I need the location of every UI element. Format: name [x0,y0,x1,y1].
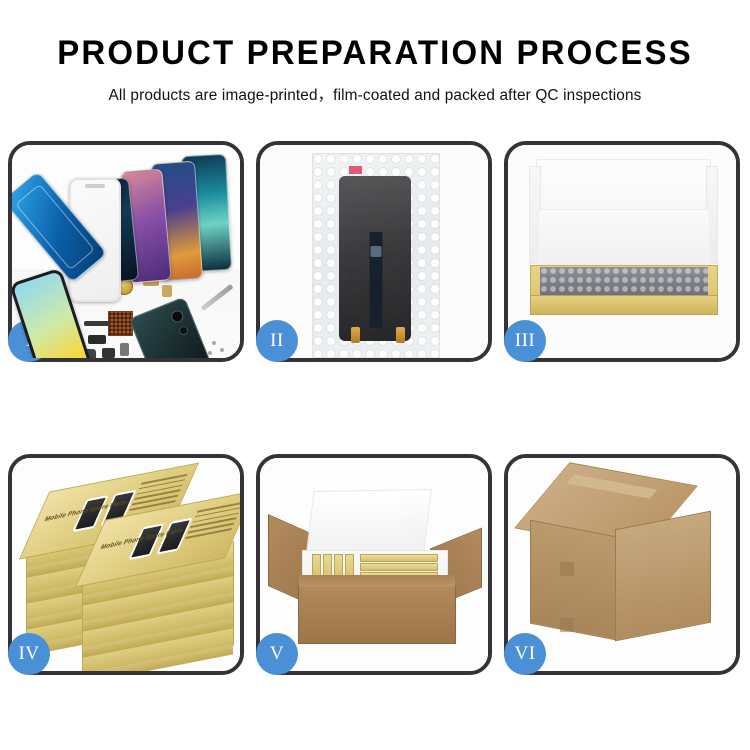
page-subtitle: All products are image-printed，film-coat… [4,83,747,105]
carton-with-foam-insert-image [260,458,488,671]
phone-screens-and-spare-parts-image [12,145,240,358]
step-badge-6: VI [504,633,546,675]
foam-lined-inner-box-image [508,145,736,358]
process-step-panel-1[interactable]: I [8,141,244,362]
bubble-wrap-bag-icon [312,153,440,358]
foam-sheet-icon [538,209,710,267]
step-badge-2: II [256,320,298,362]
header: PRODUCT PREPARATION PROCESS All products… [0,0,750,105]
process-step-panel-2[interactable]: II [256,141,492,362]
carton-right-face-icon [615,511,711,642]
sealed-shipping-carton-image [508,458,736,671]
gold-connector-left-icon [351,327,360,343]
page-title: PRODUCT PREPARATION PROCESS [11,36,739,72]
process-step-grid: I II [8,141,742,675]
bubble-padding-icon [540,267,708,295]
process-step-panel-4[interactable]: Mobile Phone Spare Parts Mobile Phone Sp… [8,454,244,675]
step-badge-3: III [504,320,546,362]
step-badge-5: V [256,633,298,675]
pink-label-icon [349,166,362,174]
stacked-retail-boxes-image: Mobile Phone Spare Parts Mobile Phone Sp… [12,458,240,671]
product-preparation-infographic: PRODUCT PREPARATION PROCESS All products… [0,0,750,750]
gold-connector-right-icon [396,327,405,343]
packed-box-flat-1 [360,554,438,562]
copper-grid-part-icon [108,311,133,336]
flex-cable-icon [370,232,383,328]
step-badge-4: IV [8,633,50,675]
packed-box-flat-2 [360,563,438,571]
carton-tab-lower-icon [560,618,574,632]
carton-body-icon [298,586,456,644]
foam-lid-open-icon [306,489,432,553]
carton-tab-upper-icon [560,562,574,576]
box-front-panel-icon [530,295,718,315]
process-step-panel-5[interactable]: V [256,454,492,675]
bubble-wrapped-screen-image [260,145,488,358]
process-step-panel-6[interactable]: VI [504,454,740,675]
process-step-panel-3[interactable]: III [504,141,740,362]
